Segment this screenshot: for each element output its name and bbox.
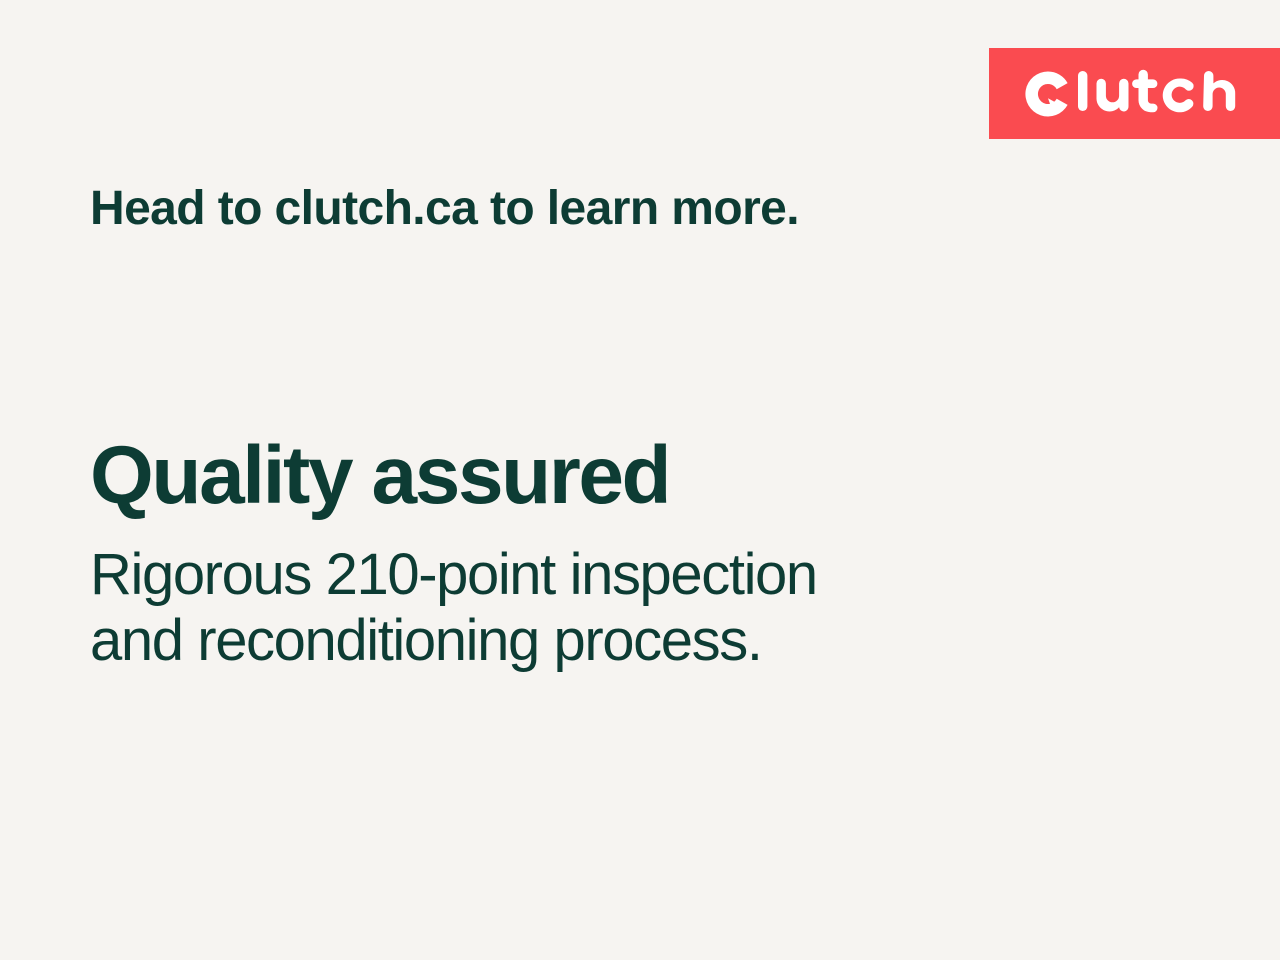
headline-text: Quality assured bbox=[90, 432, 669, 520]
subhead-line-1: Rigorous 210-point inspection bbox=[90, 542, 817, 608]
clutch-wordmark bbox=[1076, 68, 1262, 120]
kicker-text: Head to clutch.ca to learn more. bbox=[90, 180, 799, 238]
slide-canvas: clutch Head to clutch.ca to learn more. … bbox=[0, 0, 1280, 960]
subhead-line-2: and reconditioning process. bbox=[90, 608, 817, 674]
clutch-logo-banner[interactable]: clutch bbox=[989, 48, 1280, 139]
subhead-text: Rigorous 210-point inspection and recond… bbox=[90, 542, 817, 674]
clutch-logo-lockup: clutch bbox=[1022, 68, 1262, 120]
clutch-c-mark-icon bbox=[1022, 68, 1074, 120]
